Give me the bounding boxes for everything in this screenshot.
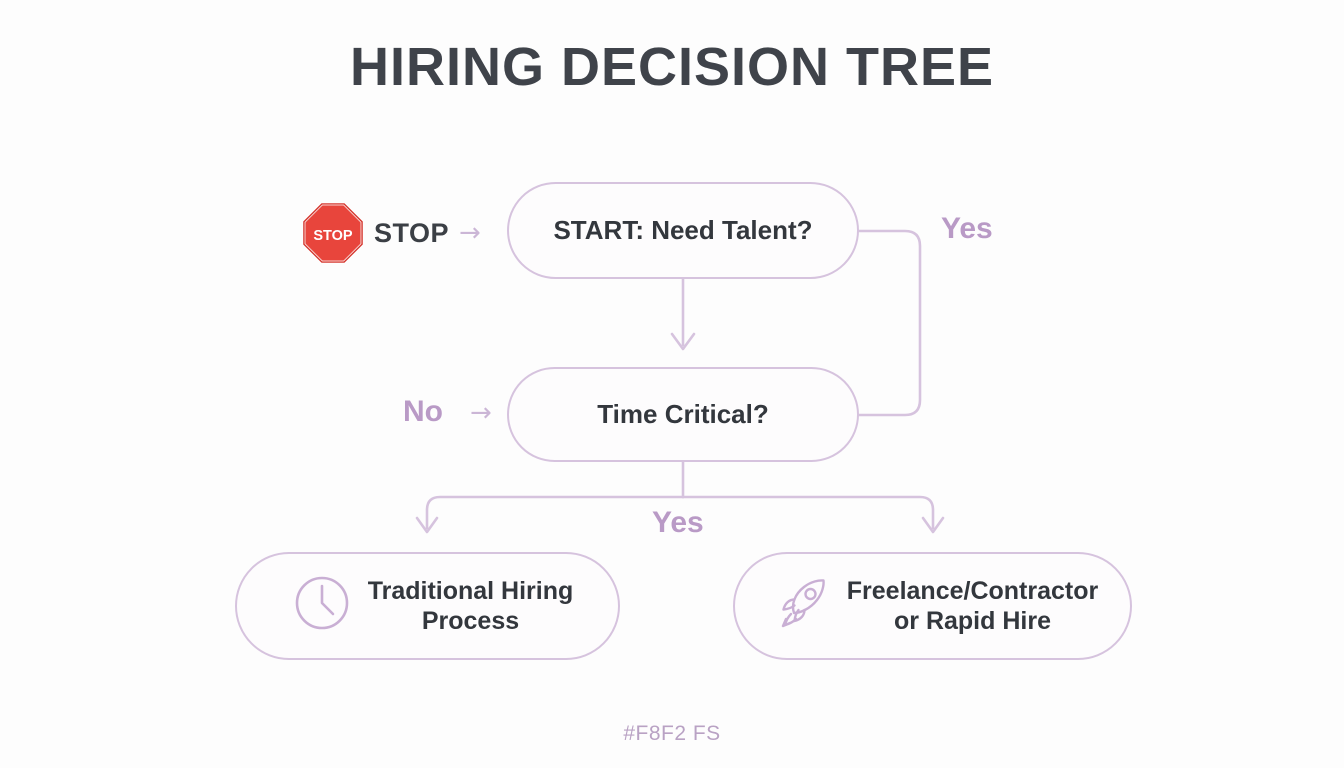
node-traditional-label-line1: Traditional Hiring (368, 577, 574, 605)
rocket-icon (773, 572, 835, 641)
edge-label-yes-middle: Yes (652, 506, 704, 540)
edge-label-yes-right: Yes (941, 212, 993, 246)
footer-note: #F8F2 FS (0, 722, 1344, 746)
stop-sign-icon: STOP (302, 202, 364, 264)
page-title: HIRING DECISION TREE (0, 36, 1344, 98)
arrowhead-start-to-time (672, 334, 694, 349)
node-traditional-hiring-process[interactable]: Traditional Hiring Process (235, 552, 620, 660)
no-arrow-icon: → (470, 400, 492, 426)
node-start-need-talent[interactable]: START: Need Talent? (507, 182, 859, 279)
svg-text:STOP: STOP (313, 228, 353, 244)
edge-label-no: No (403, 395, 443, 429)
diagram-canvas: HIRING DECISION TREE STOP (0, 0, 1344, 768)
node-start-label: START: Need Talent? (553, 215, 812, 247)
arrowhead-to-traditional (417, 518, 437, 532)
clock-icon (292, 573, 352, 640)
node-time-critical-label: Time Critical? (597, 399, 768, 431)
node-time-critical[interactable]: Time Critical? (507, 367, 859, 462)
node-freelance-label: Freelance/Contractor or Rapid Hire (847, 576, 1098, 637)
node-traditional-label-line2: Process (422, 607, 519, 635)
node-freelance-or-rapid-hire[interactable]: Freelance/Contractor or Rapid Hire (733, 552, 1132, 660)
node-freelance-label-line1: Freelance/Contractor (847, 577, 1098, 605)
entry-marker-label: STOP (374, 218, 449, 249)
edge-bus-to-freelance (683, 497, 933, 528)
edge-bus-to-traditional (427, 497, 683, 528)
entry-marker: STOP STOP → (302, 202, 481, 264)
entry-arrow-icon: → (459, 220, 481, 246)
node-traditional-label: Traditional Hiring Process (368, 576, 574, 637)
node-freelance-label-line2: or Rapid Hire (894, 607, 1051, 635)
edge-yes-right-loop (859, 231, 920, 415)
arrowhead-to-freelance (923, 518, 943, 532)
